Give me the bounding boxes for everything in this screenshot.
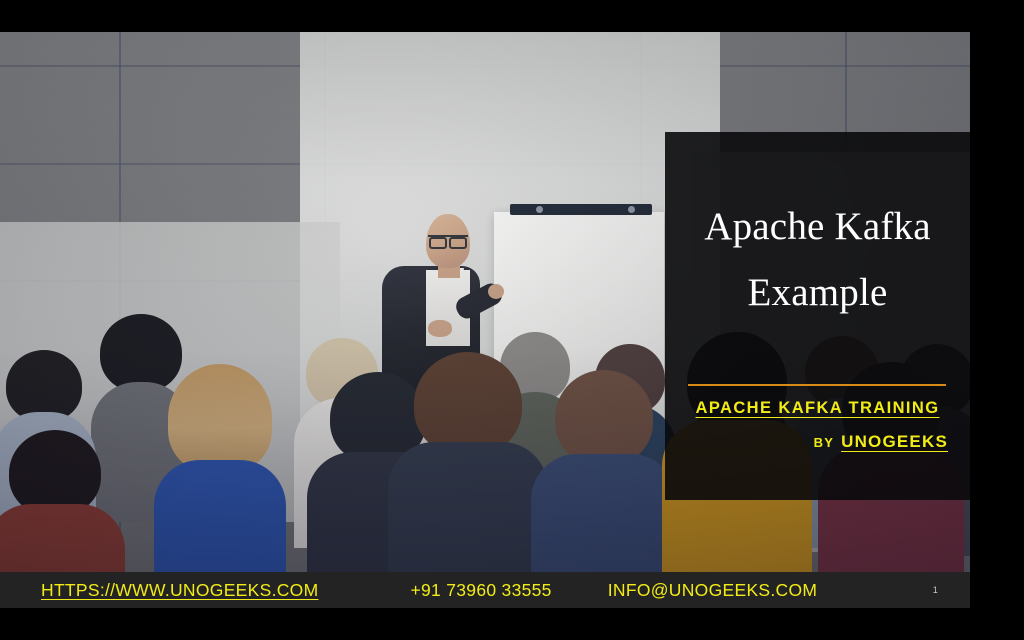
audience-person <box>160 364 280 604</box>
byline-prefix: BY <box>814 435 834 450</box>
title-panel: Apache Kafka Example APACHE KAFKA TRAINI… <box>665 132 970 500</box>
footer-email: INFO@UNOGEEKS.COM <box>608 580 818 601</box>
slide-viewport: Apache Kafka Example APACHE KAFKA TRAINI… <box>0 0 1024 640</box>
audience-person <box>398 352 538 602</box>
slide-title-line-1: Apache Kafka <box>687 194 948 260</box>
slide-title: Apache Kafka Example <box>687 194 948 326</box>
page-number: 1 <box>933 585 938 595</box>
footer-contact-bar: HTTPS://WWW.UNOGEEKS.COM +91 73960 33555… <box>0 572 970 608</box>
byline-row: BYUNOGEEKS <box>687 432 948 452</box>
presenter-hand <box>428 320 452 337</box>
title-divider <box>688 384 946 386</box>
presenter-glasses <box>428 235 468 245</box>
slide-title-line-2: Example <box>687 260 948 326</box>
brand-name: UNOGEEKS <box>841 432 948 451</box>
presenter-hand <box>488 284 504 299</box>
course-label: APACHE KAFKA TRAINING <box>687 399 948 418</box>
footer-website-link[interactable]: HTTPS://WWW.UNOGEEKS.COM <box>41 580 318 601</box>
presentation-slide: Apache Kafka Example APACHE KAFKA TRAINI… <box>0 32 970 608</box>
flipchart-clip <box>628 206 635 213</box>
flipchart-clip <box>536 206 543 213</box>
footer-phone: +91 73960 33555 <box>410 580 551 601</box>
